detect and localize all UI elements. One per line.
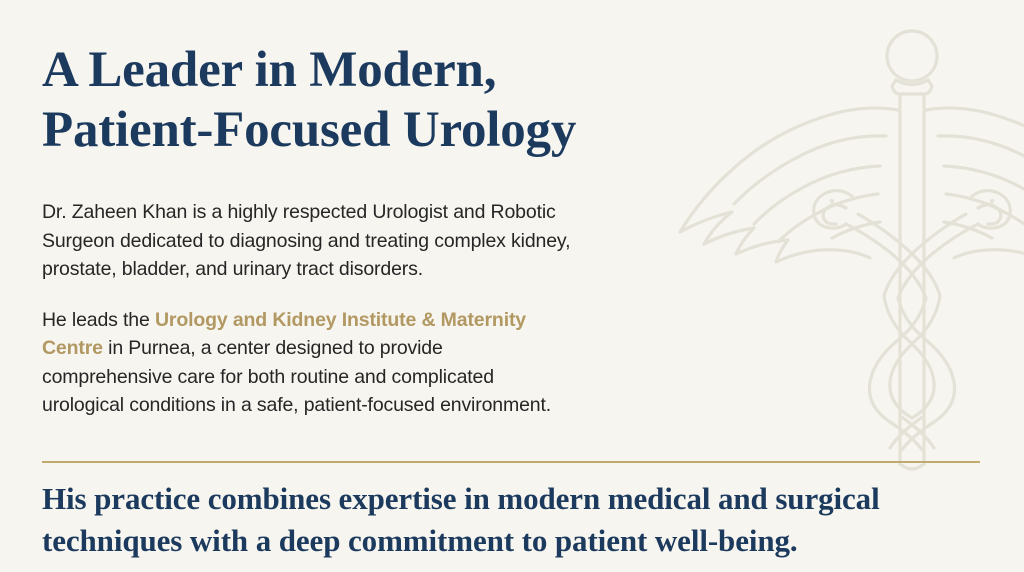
institute-lead-text: He leads the: [42, 309, 155, 331]
institute-line-3: comprehensive care for both routine and …: [42, 363, 682, 392]
paragraph-intro: Dr. Zaheen Khan is a highly respected Ur…: [42, 198, 682, 284]
institute-after-text: in Purnea, a center designed to provide: [103, 337, 443, 359]
intro-line-2: Surgeon dedicated to diagnosing and trea…: [42, 227, 682, 256]
institute-line-1: He leads the Urology and Kidney Institut…: [42, 306, 682, 335]
caduceus-icon: [672, 18, 1024, 478]
headline-line-2: Patient-Focused Urology: [42, 100, 702, 160]
paragraph-institute: He leads the Urology and Kidney Institut…: [42, 306, 682, 420]
institute-line-4: urological conditions in a safe, patient…: [42, 391, 682, 420]
closing-line-2: techniques with a deep commitment to pat…: [42, 520, 992, 562]
closing-line-1: His practice combines expertise in moder…: [42, 478, 992, 520]
intro-line-3: prostate, bladder, and urinary tract dis…: [42, 255, 682, 284]
institute-name-part-2: Centre: [42, 337, 103, 359]
headline-line-1: A Leader in Modern,: [42, 40, 702, 100]
intro-line-1: Dr. Zaheen Khan is a highly respected Ur…: [42, 198, 682, 227]
body-copy: Dr. Zaheen Khan is a highly respected Ur…: [42, 198, 682, 420]
institute-line-2: Centre in Purnea, a center designed to p…: [42, 334, 682, 363]
caduceus-watermark: [672, 18, 1024, 478]
slide-root: A Leader in Modern, Patient-Focused Urol…: [0, 0, 1024, 572]
page-title: A Leader in Modern, Patient-Focused Urol…: [42, 40, 702, 160]
institute-name-part-1: Urology and Kidney Institute & Maternity: [155, 309, 526, 331]
closing-statement: His practice combines expertise in moder…: [42, 478, 992, 562]
section-divider: [42, 461, 980, 463]
